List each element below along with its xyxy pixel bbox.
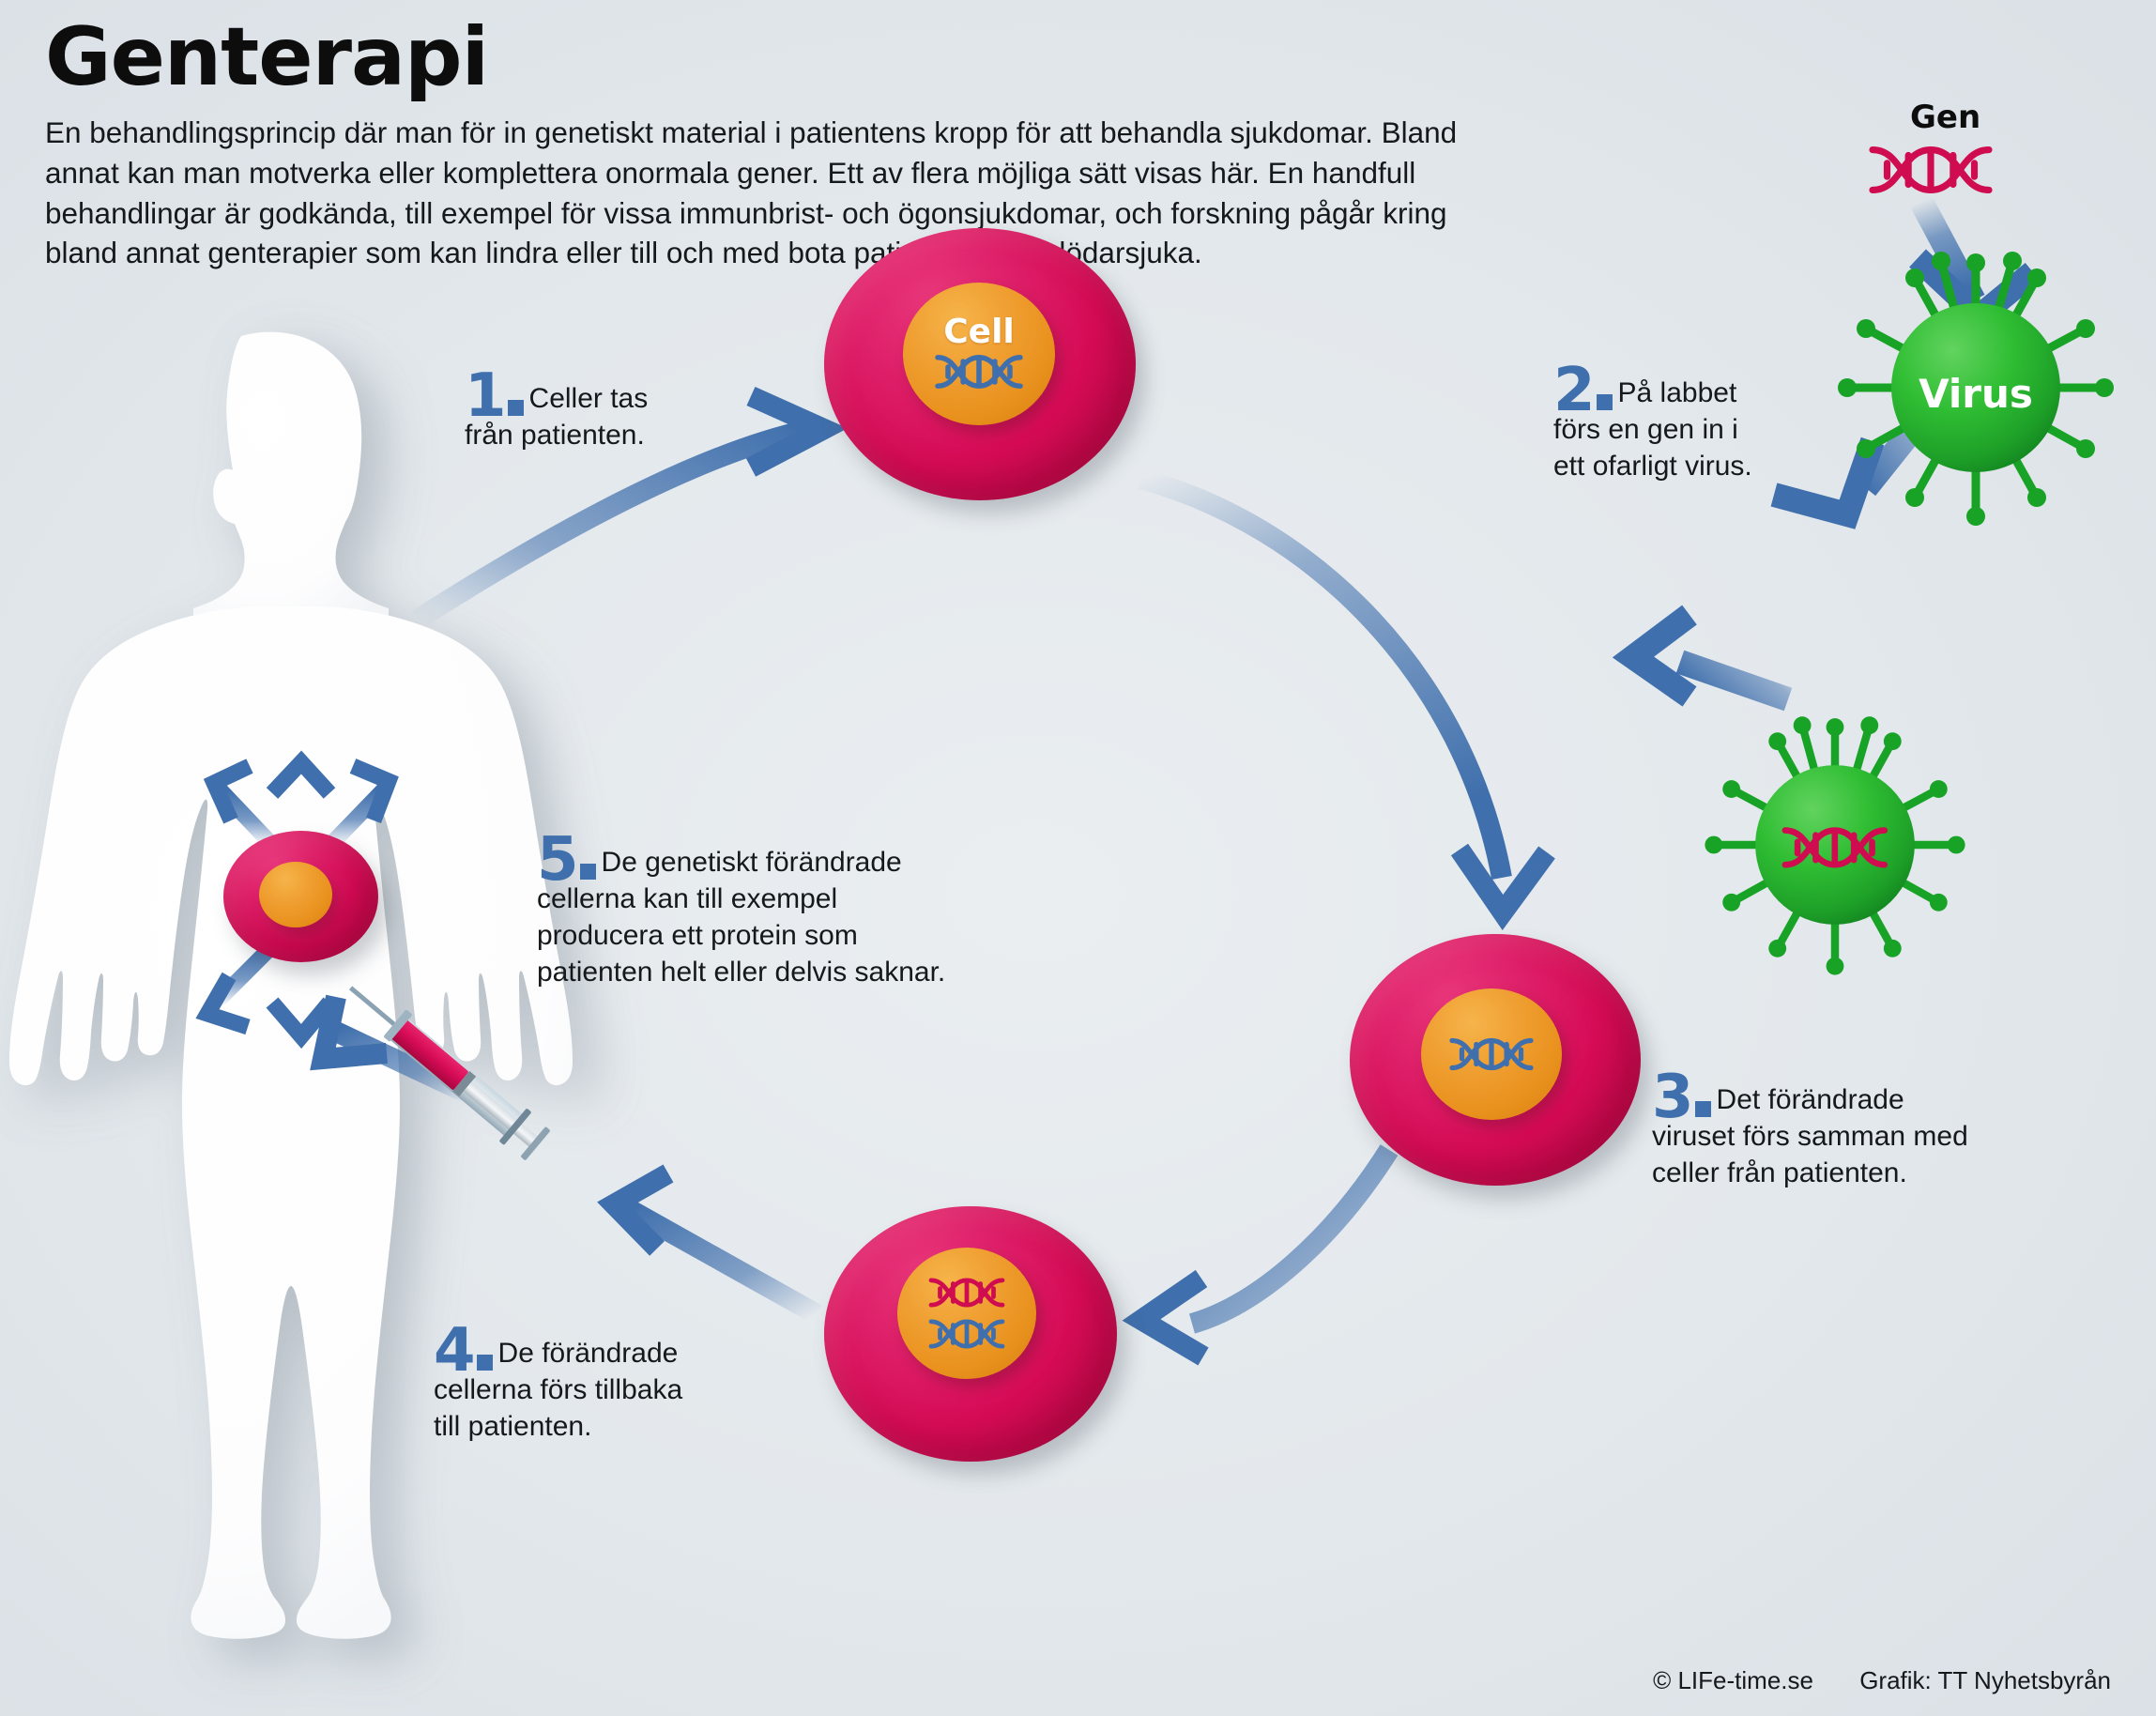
cell-nucleus — [897, 1248, 1036, 1379]
cell-nucleus — [259, 862, 332, 927]
cell-mixed-with-virus — [1350, 934, 1641, 1186]
step-1: 1Celler tas från patienten. — [465, 364, 746, 453]
cell-nucleus: Cell — [903, 283, 1055, 425]
step-5: 5De genetiskt förändrade cellerna kan ti… — [537, 828, 1081, 990]
cell-from-patient: Cell — [824, 228, 1136, 500]
dna-helix-icon — [930, 351, 1028, 392]
step-3-number: 3 — [1652, 1063, 1711, 1132]
dna-helix-icon — [921, 1316, 1013, 1352]
step-4-number: 4 — [434, 1316, 493, 1386]
gene-label: Gen — [1910, 99, 1980, 136]
infographic-canvas: Genterapi En behandlingsprincip där man … — [0, 0, 2156, 1716]
credit-text: Grafik: TT Nyhetsbyrån — [1859, 1666, 2111, 1694]
cell-nucleus — [1421, 988, 1562, 1120]
dna-helix-icon-gene — [1860, 141, 2001, 199]
step-5-number: 5 — [537, 825, 596, 895]
cell-modified — [824, 1206, 1117, 1462]
step-2-number: 2 — [1553, 356, 1613, 425]
footer-credits: © LIFe-time.se Grafik: TT Nyhetsbyrån — [1613, 1666, 2111, 1695]
dna-helix-icon — [1445, 1034, 1538, 1074]
step-4: 4De förändrade cellerna förs tillbaka ti… — [434, 1319, 809, 1445]
virus-label: Virus — [1919, 371, 2033, 417]
step-5-text: De genetiskt förändrade cellerna kan til… — [537, 847, 945, 988]
cell-in-body — [223, 831, 378, 962]
dna-helix-icon-gene — [1785, 831, 1885, 866]
step-2: 2På labbet förs en gen in i ett ofarligt… — [1553, 359, 1863, 484]
cell-label: Cell — [943, 315, 1015, 349]
step-1-number: 1 — [465, 361, 524, 431]
syringe-icon — [385, 1023, 695, 1295]
copyright-text: © LIFe-time.se — [1653, 1666, 1813, 1694]
step-3: 3Det förändrade viruset förs samman med … — [1652, 1065, 2056, 1191]
virus-with-gene-icon — [1680, 690, 1990, 1000]
arrow-virus-to-cell — [1633, 615, 1788, 699]
dna-helix-icon-gene — [921, 1275, 1013, 1310]
arrow-cell-to-mix — [1140, 479, 1547, 912]
